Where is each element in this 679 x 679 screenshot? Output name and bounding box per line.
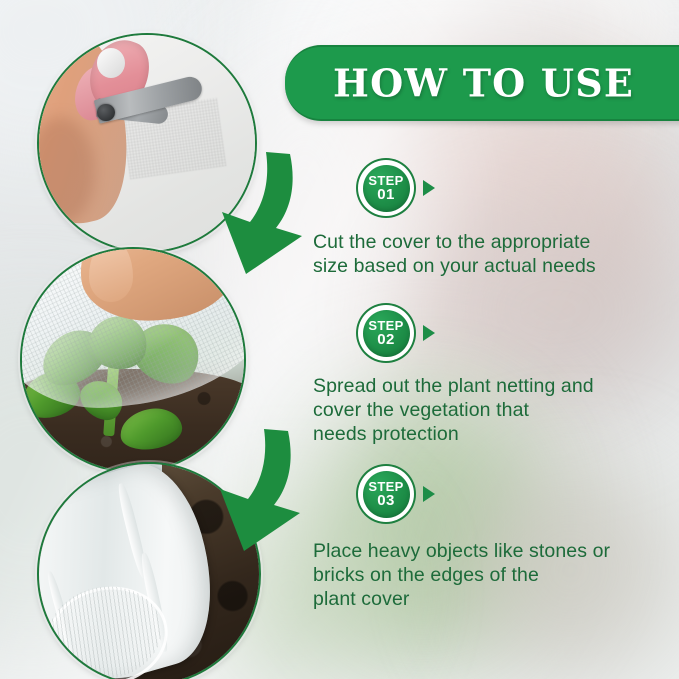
step-badge-2-core: STEP 02	[363, 310, 410, 357]
step-badge-1-core: STEP 01	[363, 165, 410, 212]
triangle-right-icon	[423, 325, 435, 341]
step-block-1: STEP 01 Cut the cover to the appropriate…	[358, 160, 596, 278]
step-badge-1-word: STEP	[368, 175, 403, 187]
triangle-right-icon	[423, 486, 435, 502]
photo-2-content	[22, 249, 244, 471]
step-2-badge-row: STEP 02	[358, 305, 594, 361]
infographic-root: HOW TO USE	[0, 0, 679, 679]
curved-arrow-down-1	[216, 148, 320, 280]
step-badge-2-number: 02	[377, 332, 395, 347]
step-badge-3-number: 03	[377, 493, 395, 508]
header-banner: HOW TO USE	[285, 45, 679, 121]
step-block-3: STEP 03 Place heavy objects like stones …	[358, 466, 610, 611]
step-badge-1-number: 01	[377, 187, 395, 202]
step-3-description: Place heavy objects like stones or brick…	[313, 539, 610, 611]
triangle-right-icon	[423, 180, 435, 196]
step-3-badge-row: STEP 03	[358, 466, 610, 522]
step-2-description: Spread out the plant netting and cover t…	[313, 374, 594, 446]
finger-shape	[89, 247, 133, 302]
step-badge-2-word: STEP	[368, 320, 403, 332]
step-badge-3-core: STEP 03	[363, 471, 410, 518]
step-1-description: Cut the cover to the appropriate size ba…	[313, 230, 596, 278]
step-block-2: STEP 02 Spread out the plant netting and…	[358, 305, 594, 446]
curved-arrow-down-2	[214, 425, 318, 557]
page-title: HOW TO USE	[333, 61, 634, 106]
photo-step-2-covering	[20, 247, 246, 473]
scissors-pivot	[97, 104, 114, 121]
step-badge-1: STEP 01	[358, 160, 414, 216]
step-badge-3: STEP 03	[358, 466, 414, 522]
step-badge-3-word: STEP	[368, 481, 403, 493]
step-1-badge-row: STEP 01	[358, 160, 596, 216]
step-badge-2: STEP 02	[358, 305, 414, 361]
